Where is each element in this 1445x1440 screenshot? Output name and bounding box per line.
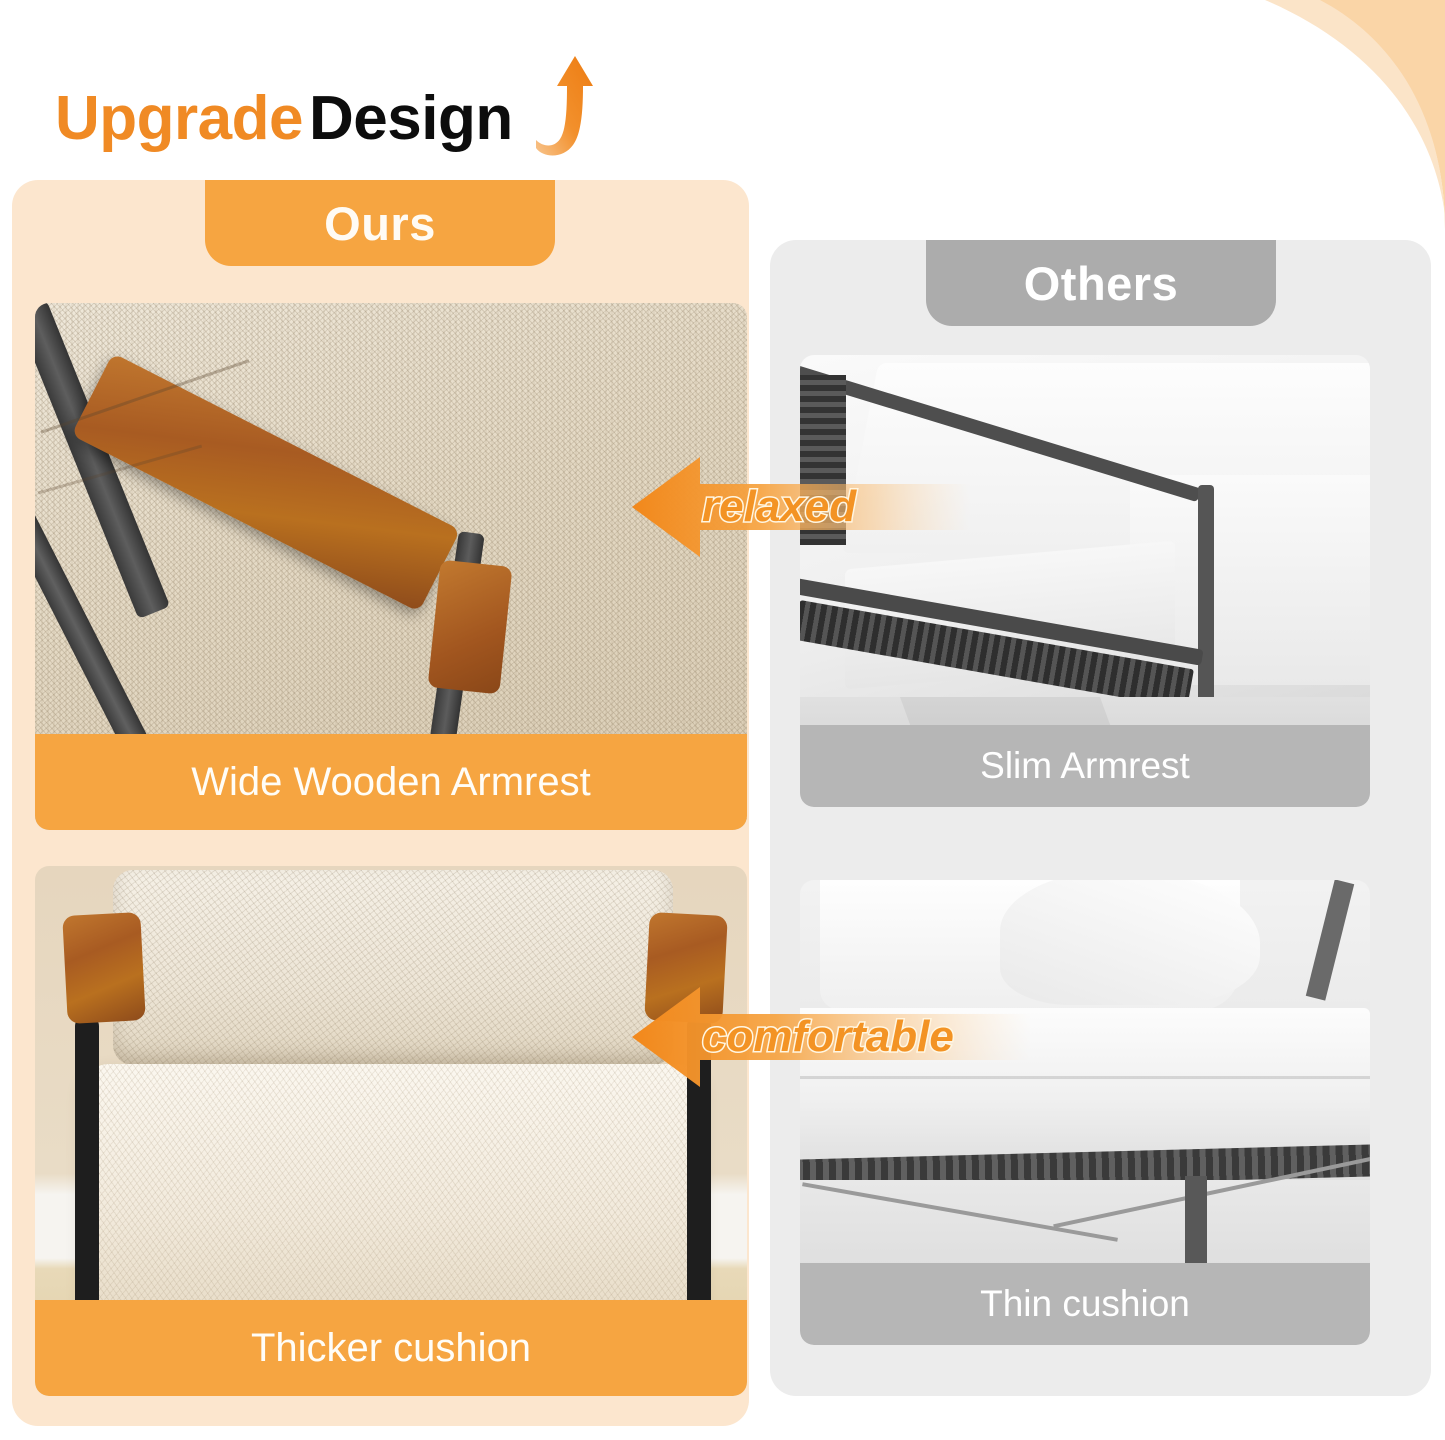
ours-cushion-card[interactable]: Thicker cushion <box>35 866 747 1396</box>
corner-decoration <box>1115 0 1445 230</box>
others-armrest-card[interactable]: Slim Armrest <box>800 355 1370 807</box>
title-word-design: Design <box>309 88 513 150</box>
ours-badge: Ours <box>205 180 555 266</box>
title-word-upgrade: Upgrade <box>55 88 303 150</box>
curved-up-arrow-icon <box>533 52 601 160</box>
others-armrest-caption: Slim Armrest <box>800 725 1370 807</box>
ours-armrest-card[interactable]: Wide Wooden Armrest <box>35 303 747 830</box>
ours-cushion-caption: Thicker cushion <box>35 1300 747 1396</box>
others-cushion-caption: Thin cushion <box>800 1263 1370 1345</box>
others-badge: Others <box>926 240 1276 326</box>
ours-armrest-caption: Wide Wooden Armrest <box>35 734 747 830</box>
others-cushion-card[interactable]: Thin cushion <box>800 880 1370 1345</box>
page-title: Upgrade Design <box>55 52 601 150</box>
